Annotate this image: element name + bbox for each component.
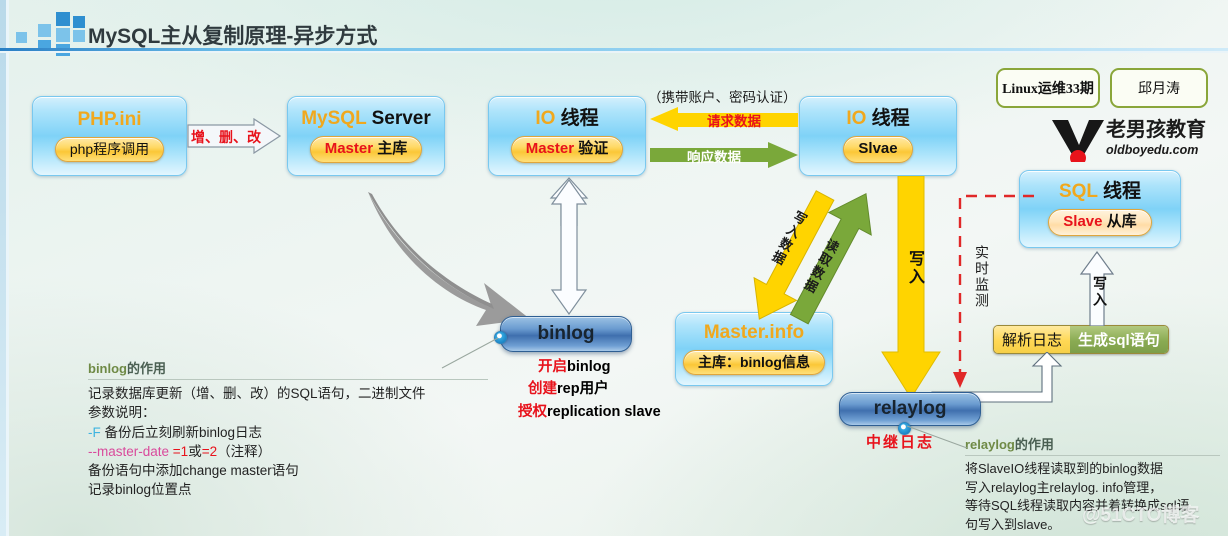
node-io-thread-master-title: IO 线程 — [535, 109, 598, 129]
node-io-thread-slave-pill: Slvae — [843, 136, 912, 163]
node-binlog[interactable]: binlog — [500, 316, 632, 352]
node-io-thread-master-pill: Master 验证 — [511, 136, 624, 163]
arrow-response-data: 响应数据 — [650, 141, 798, 169]
node-io-thread-master[interactable]: IO 线程 Master 验证 — [488, 96, 646, 176]
arrow-request-data-label: 请求数据 — [684, 110, 784, 130]
mysql-word: MySQL — [301, 108, 366, 129]
node-sql-thread-title: SQL 线程 — [1059, 182, 1141, 202]
node-php-ini[interactable]: PHP.ini php程序调用 — [32, 96, 187, 176]
arrow-crud-label: 增、删、改 — [191, 127, 253, 147]
node-php-ini-pill: php程序调用 — [55, 137, 164, 163]
leader-line-binlog — [440, 336, 502, 370]
callout-binlog: binlog的作用 记录数据库更新（增、删、改）的SQL语句，二进制文件 参数说… — [88, 362, 488, 499]
arrow-request-data: 请求数据 — [650, 105, 798, 133]
callout-binlog-line-2: 参数说明： — [88, 403, 488, 422]
arrow-write-big-label: 写入 — [902, 250, 926, 286]
node-sql-thread[interactable]: SQL 线程 Slave 从库 — [1019, 170, 1181, 248]
oldboy-logo: 老男孩教育 oldboyedu.com — [1048, 118, 1228, 164]
node-relaylog-label: relaylog — [874, 398, 947, 420]
callout-binlog-rule — [88, 379, 488, 380]
watermark: @51CTO博客 — [1082, 500, 1199, 527]
logo-en-text: oldboyedu.com — [1106, 144, 1198, 157]
callout-relaylog-rule — [965, 455, 1220, 456]
callout-binlog-line-3: -F 备份后立刻刷新binlog日志 — [88, 423, 488, 442]
tag-course: Linux运维33期 — [996, 68, 1100, 108]
callout-binlog-line-5: 备份语句中添加change master语句 — [88, 461, 488, 480]
node-mysql-server-pill: Master 主库 — [310, 136, 423, 163]
callout-relaylog-line-1: 将SlaveIO线程读取到的binlog数据 — [965, 460, 1220, 478]
binlog-step-3: 授权replication slave — [518, 401, 730, 423]
header-divider-soft — [0, 51, 1228, 53]
page-title: MySQL主从复制原理-异步方式 — [88, 20, 377, 50]
callout-binlog-line-1: 记录数据库更新（增、删、改）的SQL语句，二进制文件 — [88, 384, 488, 403]
slide-canvas: MySQL主从复制原理-异步方式 Linux运维33期 邱月涛 老男孩教育 ol… — [0, 0, 1228, 536]
arrow-grey-curved — [360, 180, 540, 330]
logo-cn-text: 老男孩教育 — [1106, 120, 1206, 140]
parse-log-label: 解析日志 — [994, 326, 1070, 353]
check-mark-icon — [1048, 118, 1108, 162]
node-relaylog[interactable]: relaylog — [839, 392, 981, 426]
arrow-white-bidirectional — [548, 178, 590, 316]
callout-relaylog-heading: relaylog的作用 — [965, 438, 1220, 452]
node-parse-generate[interactable]: 解析日志 生成sql语句 — [993, 325, 1169, 354]
generate-sql-label: 生成sql语句 — [1070, 326, 1168, 353]
callout-binlog-heading: binlog的作用 — [88, 362, 488, 376]
callout-binlog-line-4: --master-date =1或=2（注释） — [88, 442, 488, 461]
tag-author: 邱月涛 — [1110, 68, 1208, 108]
tag-author-label: 邱月涛 — [1138, 78, 1180, 98]
node-sql-thread-pill: Slave 从库 — [1048, 209, 1151, 236]
node-io-thread-slave-title: IO 线程 — [846, 109, 909, 129]
arrow-read-data-diagonal: 读取数据 — [775, 180, 885, 330]
server-word: Server — [372, 108, 431, 129]
tag-course-label: Linux运维33期 — [1002, 78, 1094, 98]
label-realtime-monitor: 实时监测 — [972, 245, 992, 309]
callout-relaylog-line-2: 写入relaylog主relaylog. info管理， — [965, 479, 1220, 497]
arrow-white-up-write-label: 写入 — [1090, 276, 1110, 308]
node-php-ini-title: PHP.ini — [77, 110, 141, 130]
node-master-info-pill: 主库：binlog信息 — [683, 350, 825, 376]
arrow-crud: 增、删、改 — [186, 118, 282, 156]
node-mysql-server-title: MySQL Server — [301, 109, 431, 129]
callout-binlog-line-6: 记录binlog位置点 — [88, 480, 488, 499]
left-accent-bar-inner — [6, 0, 9, 536]
node-mysql-server[interactable]: MySQL Server Master 主库 — [287, 96, 445, 176]
arrow-white-up-write: 写入 — [1078, 250, 1116, 326]
node-io-thread-slave[interactable]: IO 线程 Slvae — [799, 96, 957, 176]
leader-line-relaylog — [905, 424, 971, 452]
arrow-response-data-label: 响应数据 — [664, 146, 764, 166]
label-auth-note: （携带账户、密码认证） — [648, 86, 797, 106]
node-binlog-label: binlog — [538, 323, 595, 345]
